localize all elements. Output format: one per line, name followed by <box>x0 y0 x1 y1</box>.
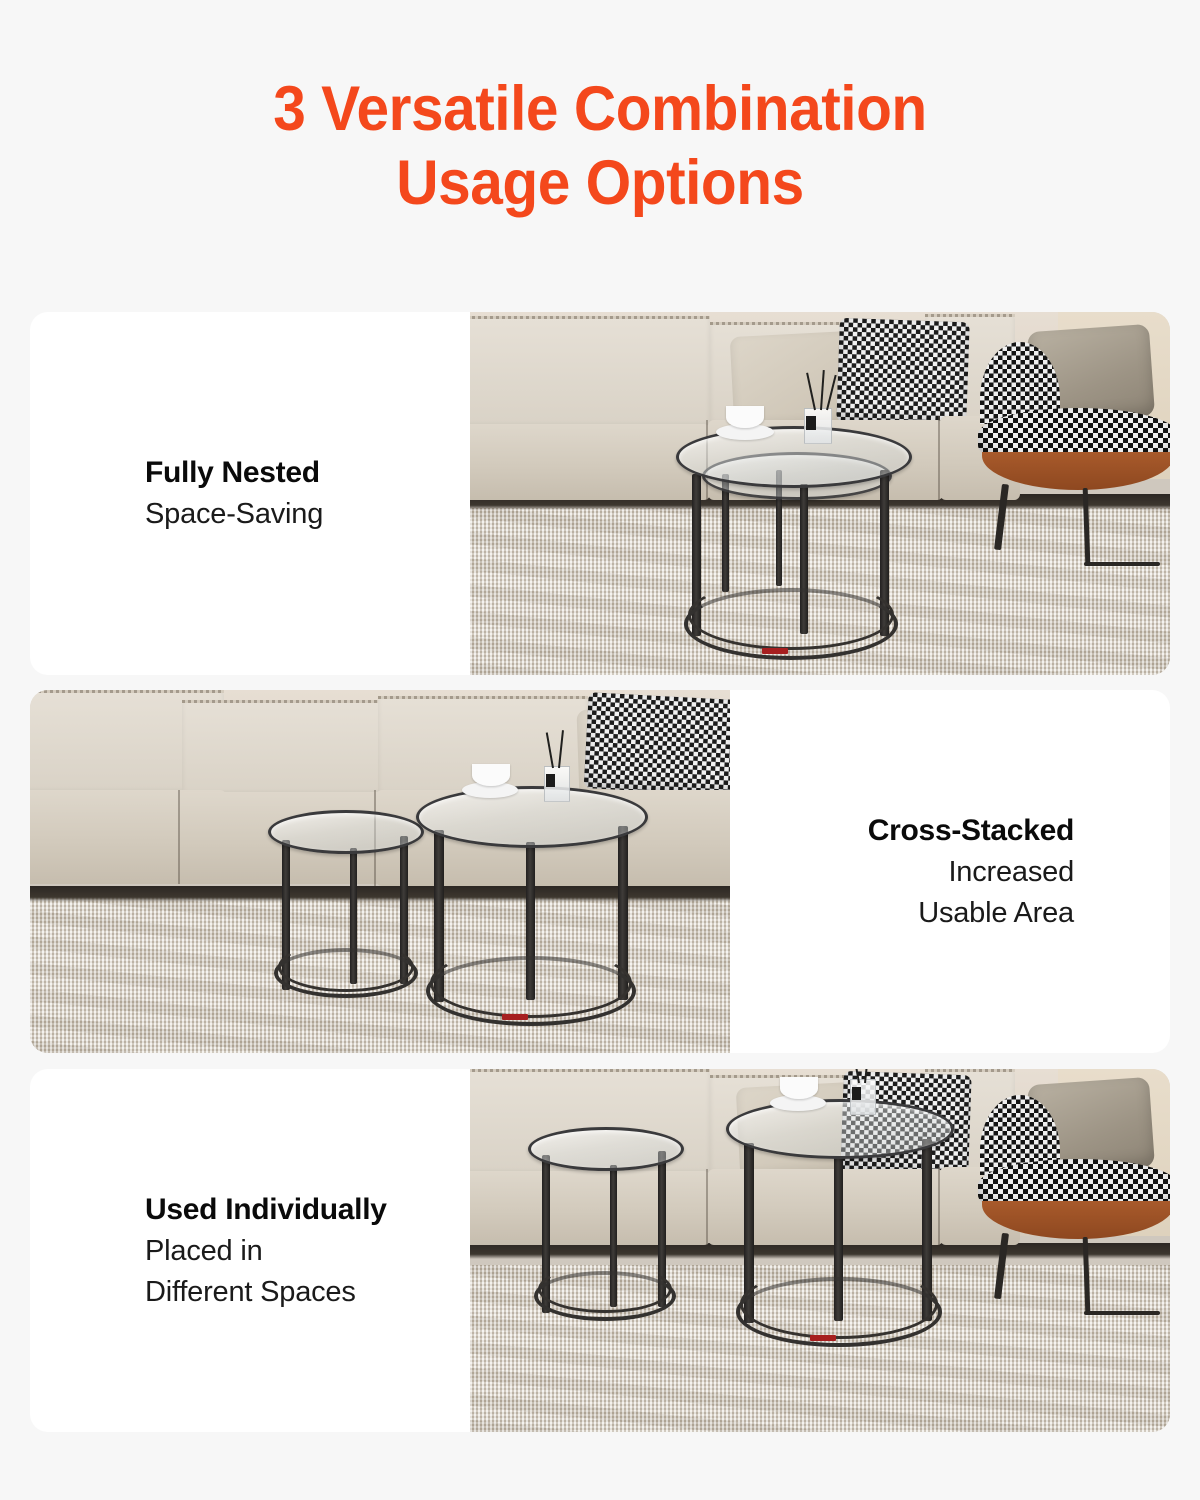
brand-label-tag <box>502 1014 528 1020</box>
large-table-glass-top <box>416 786 648 848</box>
card-text-block: Cross-Stacked Increased Usable Area <box>730 690 1170 1053</box>
living-room-scene <box>30 690 730 1053</box>
large-table-foot-ring <box>684 588 898 660</box>
houndstooth-pillow <box>584 692 730 796</box>
card-title: Cross-Stacked <box>868 810 1074 852</box>
feature-card-used-individually: Used Individually Placed in Different Sp… <box>30 1069 1170 1432</box>
large-table-foot-ring <box>736 1277 942 1347</box>
sofa-seam <box>938 1167 940 1245</box>
card-title: Used Individually <box>145 1189 387 1231</box>
page-title: 3 Versatile Combination Usage Options <box>42 72 1158 220</box>
product-photo-used-individually <box>470 1069 1170 1432</box>
sofa-seat <box>470 1171 710 1245</box>
card-text-block: Fully Nested Space-Saving <box>30 312 470 675</box>
sofa-back-cushion <box>182 700 382 796</box>
small-table-glass-top <box>528 1127 684 1171</box>
armchair-leg <box>1084 562 1160 566</box>
card-subtitle-line: Usable Area <box>918 893 1074 934</box>
sofa-seam <box>938 416 940 500</box>
brand-label-tag <box>810 1335 836 1341</box>
bottle-label <box>546 774 555 787</box>
armchair-leg <box>1084 1311 1160 1315</box>
feature-card-fully-nested: Fully Nested Space-Saving <box>30 312 1170 675</box>
feature-card-cross-stacked: Cross-Stacked Increased Usable Area <box>30 690 1170 1053</box>
page-title-line-1: 3 Versatile Combination <box>273 74 927 144</box>
floor-shadow-line <box>470 1243 1170 1259</box>
card-subtitle-line: Space-Saving <box>145 494 323 535</box>
houndstooth-pillow <box>836 318 970 426</box>
page-title-line-2: Usage Options <box>42 146 1158 220</box>
small-table-glass-top <box>268 810 424 854</box>
small-table-foot-ring <box>274 948 418 998</box>
product-photo-cross-stacked <box>30 690 730 1053</box>
brand-label-tag <box>762 648 788 654</box>
coffee-cup <box>726 406 764 428</box>
large-table-foot-ring <box>426 956 636 1026</box>
bottle-label <box>806 416 816 430</box>
large-table-glass-top <box>726 1099 954 1159</box>
product-photo-fully-nested <box>470 312 1170 675</box>
card-subtitle-line: Placed in <box>145 1231 263 1272</box>
sofa-seam <box>178 790 180 884</box>
card-title: Fully Nested <box>145 452 320 494</box>
coffee-cup <box>780 1077 818 1099</box>
living-room-scene <box>470 312 1170 675</box>
sofa-back-cushion <box>470 316 710 428</box>
small-table-foot-ring <box>534 1271 676 1321</box>
sofa-seat <box>470 424 710 500</box>
infographic-page: 3 Versatile Combination Usage Options Fu… <box>0 0 1200 1500</box>
card-subtitle-line: Increased <box>948 852 1074 893</box>
card-subtitle-line: Different Spaces <box>145 1272 356 1313</box>
card-text-block: Used Individually Placed in Different Sp… <box>30 1069 470 1432</box>
coffee-cup <box>472 764 510 786</box>
living-room-scene <box>470 1069 1170 1432</box>
large-table-glass-top <box>676 426 912 488</box>
bottle-label <box>852 1087 861 1100</box>
sofa-seam <box>706 1169 708 1245</box>
